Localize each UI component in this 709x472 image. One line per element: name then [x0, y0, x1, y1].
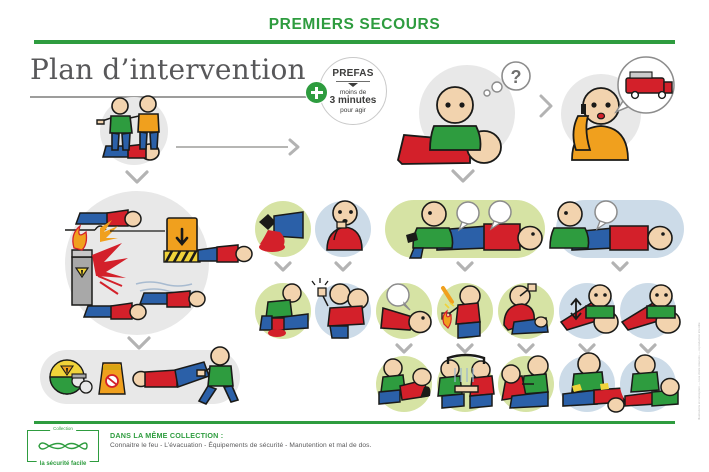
cell-defibrillation [620, 283, 680, 339]
cell-comfort [498, 356, 554, 412]
flow-arrow-down-evacuate [129, 338, 149, 348]
cell-position-victim [376, 356, 432, 412]
protect-scene [97, 96, 168, 165]
flow-arrow-down-center [453, 171, 473, 181]
cell-compress-wound [255, 283, 311, 339]
flow-arrow-2 [541, 96, 551, 116]
grid-chevrons-row2 [397, 345, 655, 352]
poster-root: PREMIERS SECOURS Plan d’intervention PRE… [0, 0, 709, 472]
flow-arrow-1 [176, 140, 298, 154]
grid-chevrons-row1 [276, 263, 627, 270]
examine-scene: ? [398, 62, 530, 164]
cell-trauma [498, 283, 554, 339]
evacuate-scene [40, 347, 240, 404]
logo-bottom-label: la sécurité facile [37, 461, 90, 467]
footer-heading: DANS LA MÊME COLLECTION : [110, 431, 223, 440]
cell-unconscious-not-breathing [550, 200, 684, 258]
logo-knot-icon [35, 439, 91, 453]
cell-recovery-position [559, 353, 624, 412]
logo-top-label: Collection [50, 426, 76, 431]
poster-artwork: ? [0, 0, 709, 472]
collection-logo: Collection la sécurité facile [27, 430, 99, 462]
hazards-scene [65, 191, 252, 335]
cell-chest-compression [559, 283, 618, 339]
cell-victim-speaks [376, 283, 432, 339]
cell-unconscious-breathing [385, 200, 545, 258]
svg-text:?: ? [511, 67, 522, 87]
cell-cool-burn [437, 355, 494, 412]
cell-burn [437, 283, 493, 339]
flow-arrow-down-left [127, 172, 147, 182]
cell-monitor [620, 355, 679, 412]
cell-choking-adult [315, 201, 371, 257]
footer-divider [34, 421, 675, 424]
cell-bleeding-wound [255, 201, 311, 257]
footer-subtitle: Connaitre le feu - L’évacuation - Équipe… [110, 442, 372, 449]
alert-scene [561, 57, 674, 160]
cell-back-blows [312, 278, 371, 339]
side-credit-text: Illustrations et conception — tous droit… [697, 120, 707, 420]
